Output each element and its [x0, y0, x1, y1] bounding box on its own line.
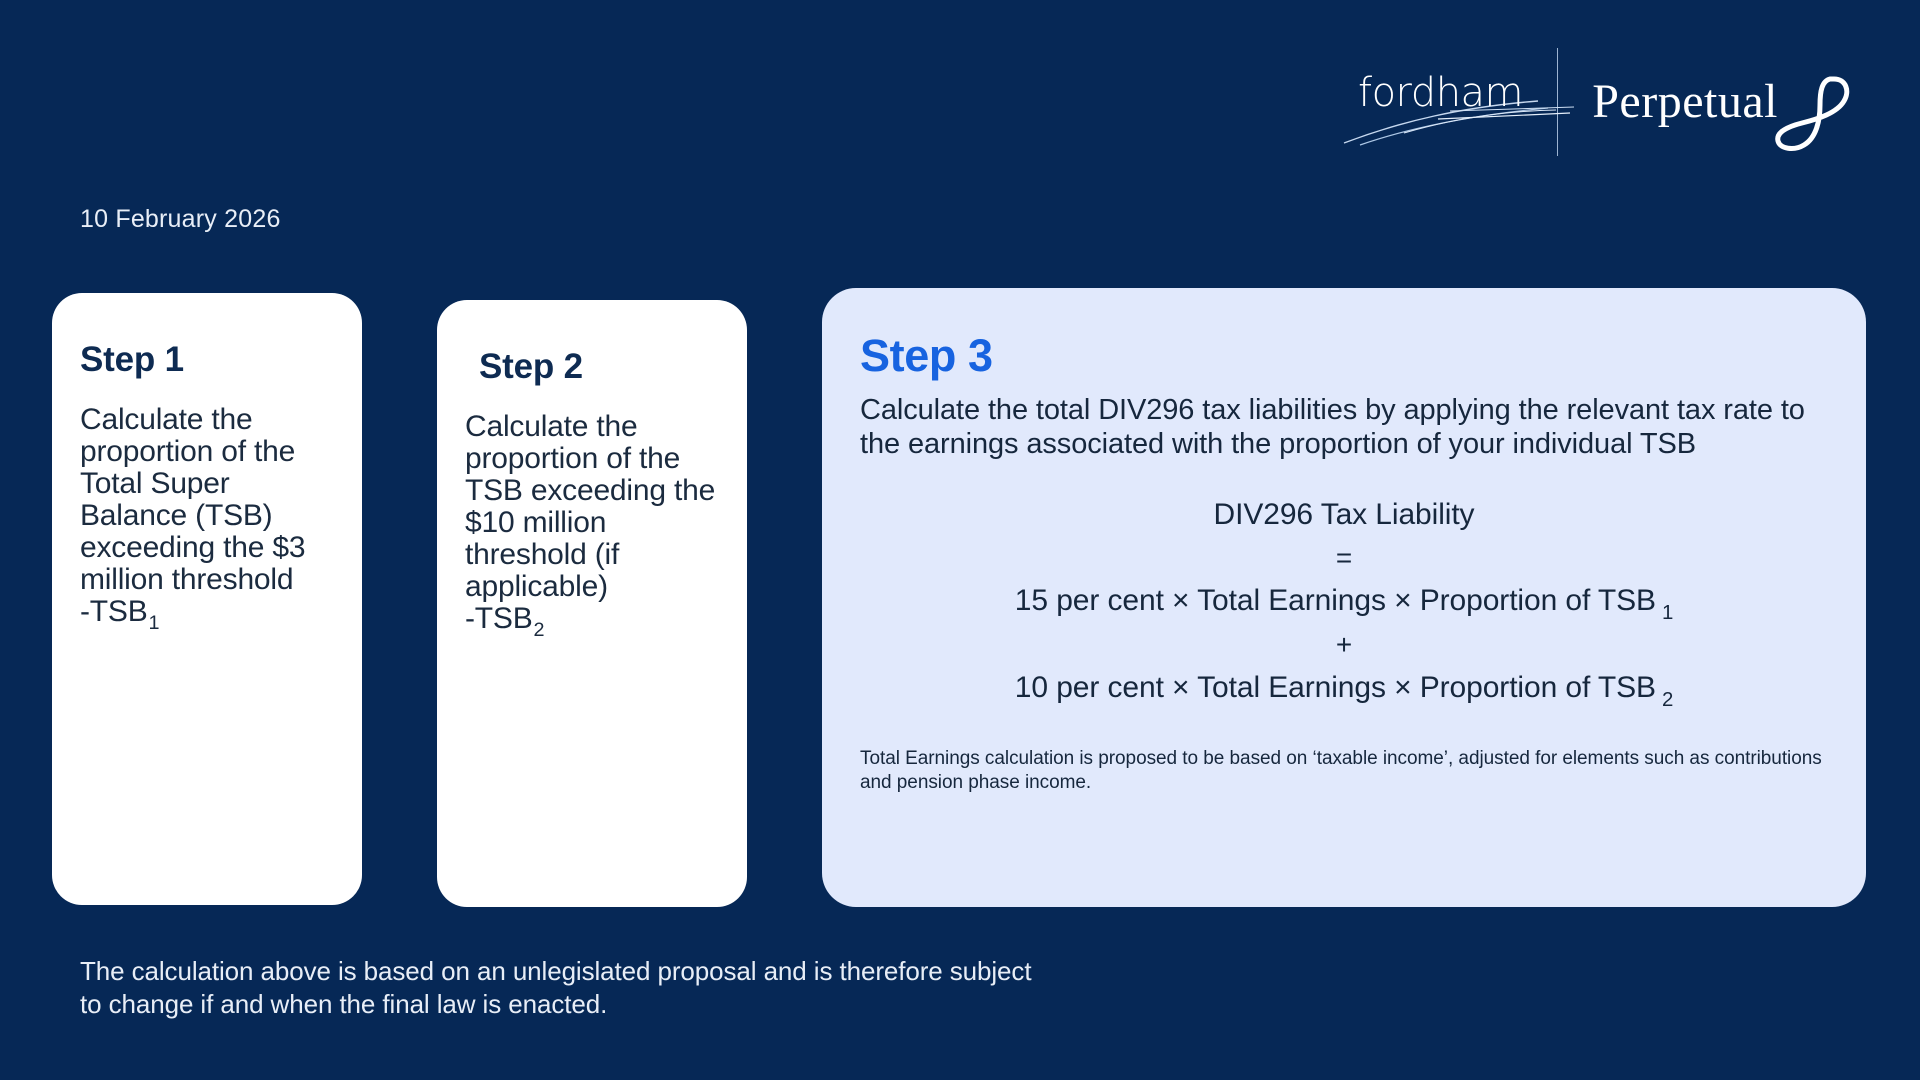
step-card-1: Step 1 Calculate the proportion of the T… [52, 293, 362, 905]
formula-term-2-text: 10 per cent × Total Earnings × Proportio… [1015, 671, 1656, 704]
formula-term-2: 10 per cent × Total Earnings × Proportio… [860, 671, 1828, 705]
formula-plus: + [860, 618, 1828, 671]
formula-term-1: 15 per cent × Total Earnings × Proportio… [860, 584, 1828, 618]
step-1-body: Calculate the proportion of the Total Su… [80, 404, 334, 629]
formula-result-name: DIV296 Tax Liability [860, 498, 1828, 532]
formula-equals: = [860, 531, 1828, 584]
perpetual-flourish-icon [1772, 69, 1850, 155]
fordham-wordmark: fordham [1358, 73, 1523, 113]
brand-lockup: fordham Perpetual [1350, 42, 1850, 162]
slide-disclaimer: The calculation above is based on an unl… [80, 955, 1060, 1022]
step-2-result: -TSB2 [465, 603, 725, 635]
step-1-result-subscript: 1 [149, 612, 160, 634]
step-2-body-text: Calculate the proportion of the TSB exce… [465, 410, 715, 603]
step-3-footnote: Total Earnings calculation is proposed t… [860, 747, 1828, 796]
step-3-title: Step 3 [860, 332, 1828, 379]
step-1-result-label: -TSB [80, 595, 148, 628]
step-panel-3: Step 3 Calculate the total DIV296 tax li… [822, 288, 1866, 907]
div296-formula: DIV296 Tax Liability = 15 per cent × Tot… [860, 498, 1828, 705]
step-2-title: Step 2 [479, 348, 725, 387]
step-card-2: Step 2 Calculate the proportion of the T… [437, 300, 747, 907]
step-2-result-subscript: 2 [534, 619, 545, 641]
step-3-body: Calculate the total DIV296 tax liabiliti… [860, 393, 1828, 461]
step-1-body-text: Calculate the proportion of the Total Su… [80, 403, 305, 596]
formula-term-1-text: 15 per cent × Total Earnings × Proportio… [1015, 584, 1656, 617]
step-1-result: -TSB1 [80, 596, 334, 628]
slide-root: { "theme": { "background": "#062856", "c… [0, 0, 1920, 1080]
perpetual-wordmark: Perpetual [1592, 78, 1778, 126]
step-2-body: Calculate the proportion of the TSB exce… [465, 411, 725, 636]
perpetual-logo: Perpetual [1592, 47, 1850, 157]
step-2-result-label: -TSB [465, 602, 533, 635]
step-1-title: Step 1 [80, 341, 334, 380]
fordham-logo: fordham [1350, 47, 1539, 157]
slide-date: 10 February 2026 [80, 205, 281, 234]
formula-term-2-subscript: 2 [1662, 689, 1673, 711]
brand-divider [1557, 48, 1558, 156]
formula-term-1-subscript: 1 [1662, 602, 1673, 624]
